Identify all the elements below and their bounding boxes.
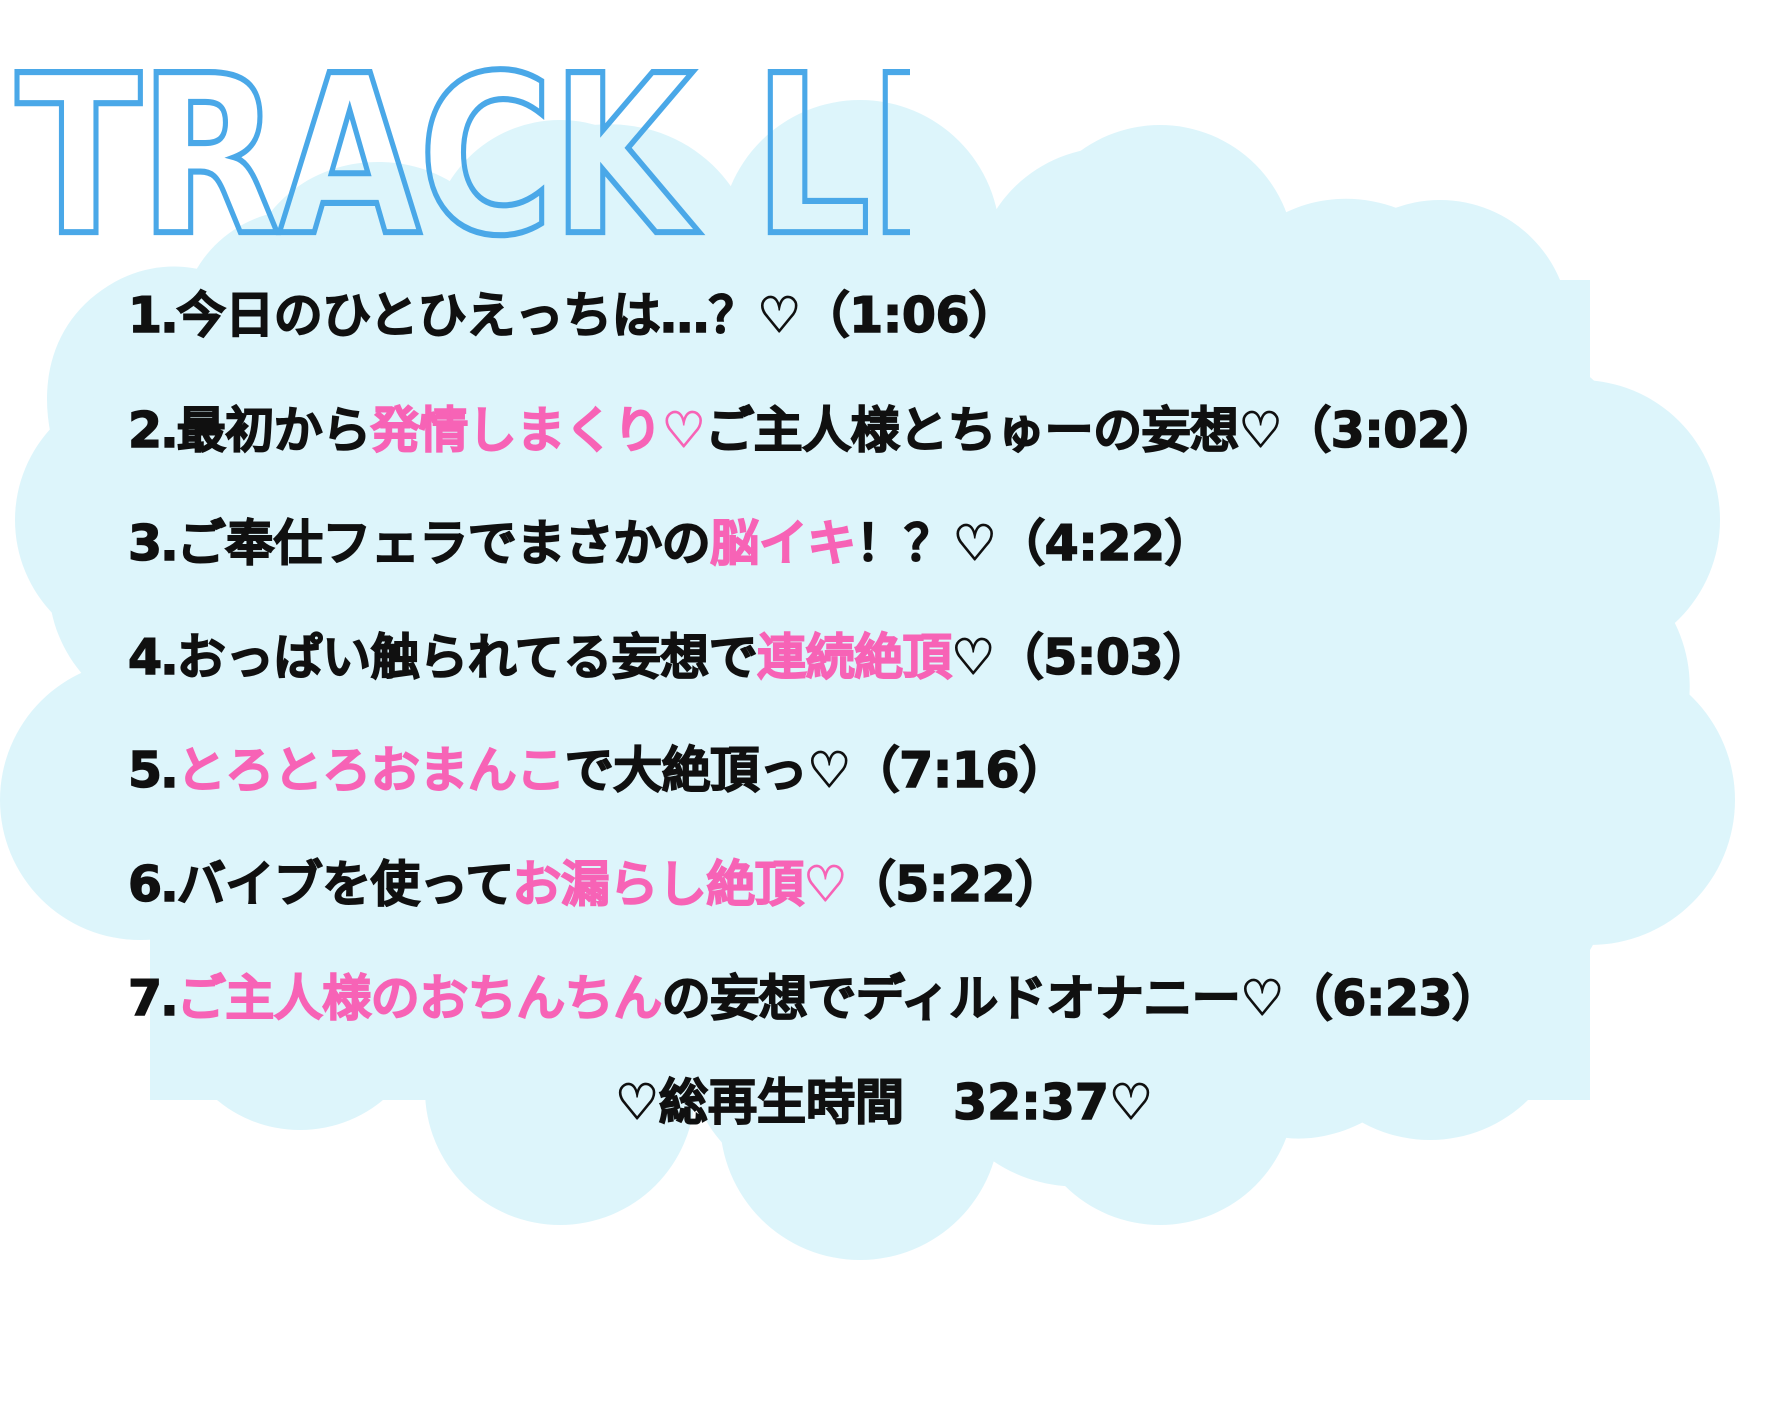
track-title-text: ！？♡（4:22） [856, 515, 1213, 572]
track-title-text: 今日のひとひえっちは…？♡（1:06） [177, 287, 1018, 344]
track-number: 6. [128, 856, 177, 913]
track-row: 3.ご奉仕フェラでまさかの脳イキ！？♡（4:22） [128, 504, 1213, 575]
page-title-text: TRACK LIST [16, 54, 910, 264]
track-title-text: バイブを使って [177, 856, 513, 913]
track-title-highlight: 脳イキ [710, 515, 856, 572]
track-title-highlight: ご主人様のおちんちん [177, 970, 662, 1027]
track-number: 5. [128, 742, 177, 799]
track-title-text: ご奉仕フェラでまさかの [177, 515, 711, 572]
track-row: 1.今日のひとひえっちは…？♡（1:06） [128, 276, 1018, 347]
track-title-text: ♡（5:03） [951, 629, 1211, 686]
track-title-highlight: 連続絶頂 [757, 629, 951, 686]
track-title-text: 最初から [177, 402, 371, 459]
track-title-text: おっぱい触られてる妄想で [177, 629, 758, 686]
page-title: TRACK LIST [10, 54, 910, 264]
track-title-highlight: 発情しまくり♡ [371, 402, 705, 459]
track-title-text: （5:22） [847, 856, 1064, 913]
track-number: 4. [128, 629, 177, 686]
track-number: 7. [128, 970, 177, 1027]
track-row: 2.最初から発情しまくり♡ご主人様とちゅーの妄想♡（3:02） [128, 391, 1499, 462]
track-title-text: の妄想でディルドオナニー♡（6:23） [662, 970, 1501, 1027]
track-title-highlight: とろとろおまんこ [177, 742, 565, 799]
track-title-text: ご主人様とちゅーの妄想♡（3:02） [705, 402, 1499, 459]
track-title-text: で大絶頂っ♡（7:16） [565, 742, 1068, 799]
track-number: 1. [128, 287, 177, 344]
track-row: 7.ご主人様のおちんちんの妄想でディルドオナニー♡（6:23） [128, 959, 1501, 1030]
track-number: 2. [128, 402, 177, 459]
track-title-highlight: お漏らし絶頂♡ [512, 856, 846, 913]
track-row: 6.バイブを使ってお漏らし絶頂♡（5:22） [128, 845, 1064, 916]
total-playtime: ♡総再生時間 32:37♡ [0, 1063, 1768, 1134]
track-number: 3. [128, 515, 177, 572]
track-row: 5.とろとろおまんこで大絶頂っ♡（7:16） [128, 731, 1068, 802]
track-row: 4.おっぱい触られてる妄想で連続絶頂♡（5:03） [128, 618, 1212, 689]
